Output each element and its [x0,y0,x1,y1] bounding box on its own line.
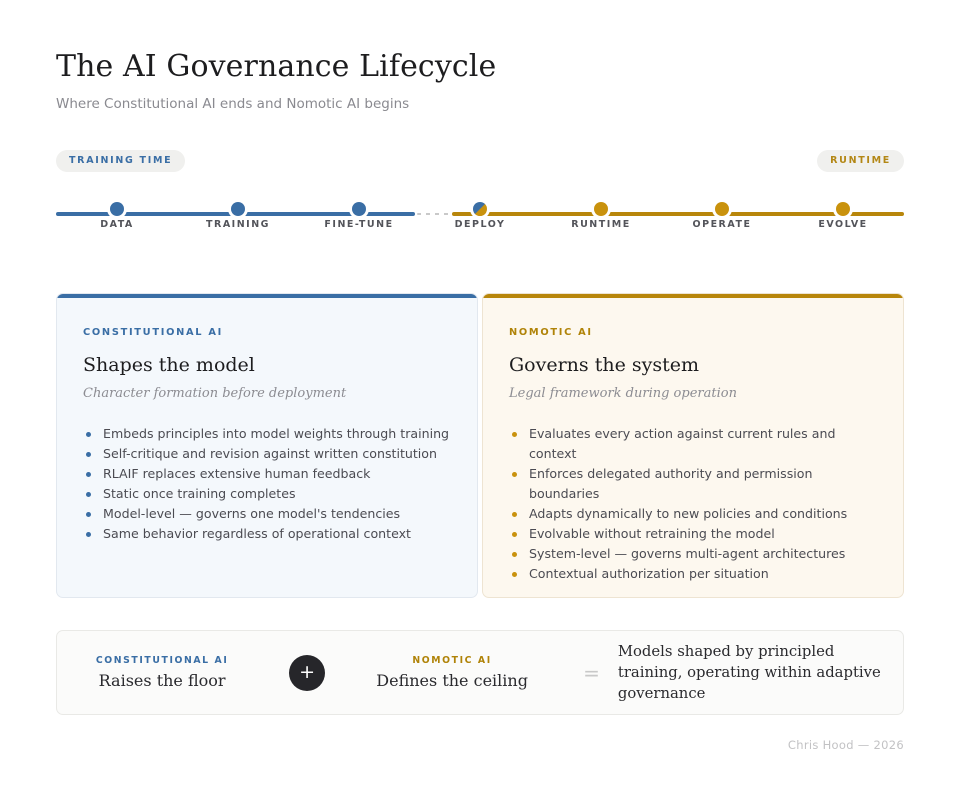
timeline-node-label: TRAINING [168,219,308,230]
card-bullet-item: Evaluates every action against current r… [509,424,877,464]
timeline-dot-icon [110,202,124,216]
timeline-dot-icon [715,202,729,216]
card-nomotic-ai: NOMOTIC AI Governs the system Legal fram… [482,293,904,598]
plus-icon: + [289,655,325,691]
card-bullet-item: Embeds principles into model weights thr… [83,424,451,444]
lifecycle-timeline: TRAINING TIME RUNTIME DATATRAININGFINE-T… [56,150,904,240]
infographic-page: The AI Governance Lifecycle Where Consti… [0,0,960,805]
summary-left-kicker: CONSTITUTIONAL AI [57,655,267,666]
card-bullet-list: Embeds principles into model weights thr… [83,424,451,544]
timeline-node-label: RUNTIME [531,219,671,230]
card-bullet-item: Static once training completes [83,484,451,504]
card-bullet-item: Self-critique and revision against writt… [83,444,451,464]
card-bullet-item: Same behavior regardless of operational … [83,524,451,544]
timeline-segment-transition-dashed [417,213,451,215]
summary-result: Models shaped by principled training, op… [618,641,903,704]
summary-equation: CONSTITUTIONAL AI Raises the floor + NOM… [56,630,904,715]
timeline-node-label: DATA [47,219,187,230]
card-bullet-item: System-level — governs multi-agent archi… [509,544,877,564]
card-title: Governs the system [509,353,877,377]
footer-credit: Chris Hood — 2026 [788,738,904,752]
card-bullet-list: Evaluates every action against current r… [509,424,877,584]
badge-training-time: TRAINING TIME [56,150,185,172]
summary-left-phrase: Raises the floor [57,670,267,691]
card-kicker: CONSTITUTIONAL AI [83,327,451,338]
timeline-dot-icon [231,202,245,216]
card-bullet-item: Evolvable without retraining the model [509,524,877,544]
timeline-node-label: FINE-TUNE [289,219,429,230]
card-title: Shapes the model [83,353,451,377]
summary-left-term: CONSTITUTIONAL AI Raises the floor [57,655,267,691]
card-constitutional-ai: CONSTITUTIONAL AI Shapes the model Chara… [56,293,478,598]
card-bullet-item: Adapts dynamically to new policies and c… [509,504,877,524]
timeline-node-label: DEPLOY [410,219,550,230]
equals-icon: = [583,661,600,685]
card-subtitle: Character formation before deployment [83,385,451,402]
badge-runtime: RUNTIME [817,150,904,172]
timeline-dot-icon [473,202,487,216]
card-bullet-item: RLAIF replaces extensive human feedback [83,464,451,484]
timeline-node-label: EVOLVE [773,219,913,230]
page-subtitle: Where Constitutional AI ends and Nomotic… [56,95,906,113]
timeline-dot-icon [836,202,850,216]
card-bullet-item: Contextual authorization per situation [509,564,877,584]
card-accent-bar [57,294,477,298]
summary-right-phrase: Defines the ceiling [347,670,557,691]
timeline-dot-icon [352,202,366,216]
timeline-node-label: OPERATE [652,219,792,230]
card-bullet-item: Enforces delegated authority and permiss… [509,464,877,504]
card-accent-bar [483,294,903,298]
card-subtitle: Legal framework during operation [509,385,877,402]
timeline-dot-icon [594,202,608,216]
comparison-cards: CONSTITUTIONAL AI Shapes the model Chara… [56,293,904,598]
page-title: The AI Governance Lifecycle [56,48,906,86]
header: The AI Governance Lifecycle Where Consti… [56,48,906,113]
summary-right-term: NOMOTIC AI Defines the ceiling [347,655,557,691]
card-kicker: NOMOTIC AI [509,327,877,338]
card-bullet-item: Model-level — governs one model's tenden… [83,504,451,524]
summary-right-kicker: NOMOTIC AI [347,655,557,666]
